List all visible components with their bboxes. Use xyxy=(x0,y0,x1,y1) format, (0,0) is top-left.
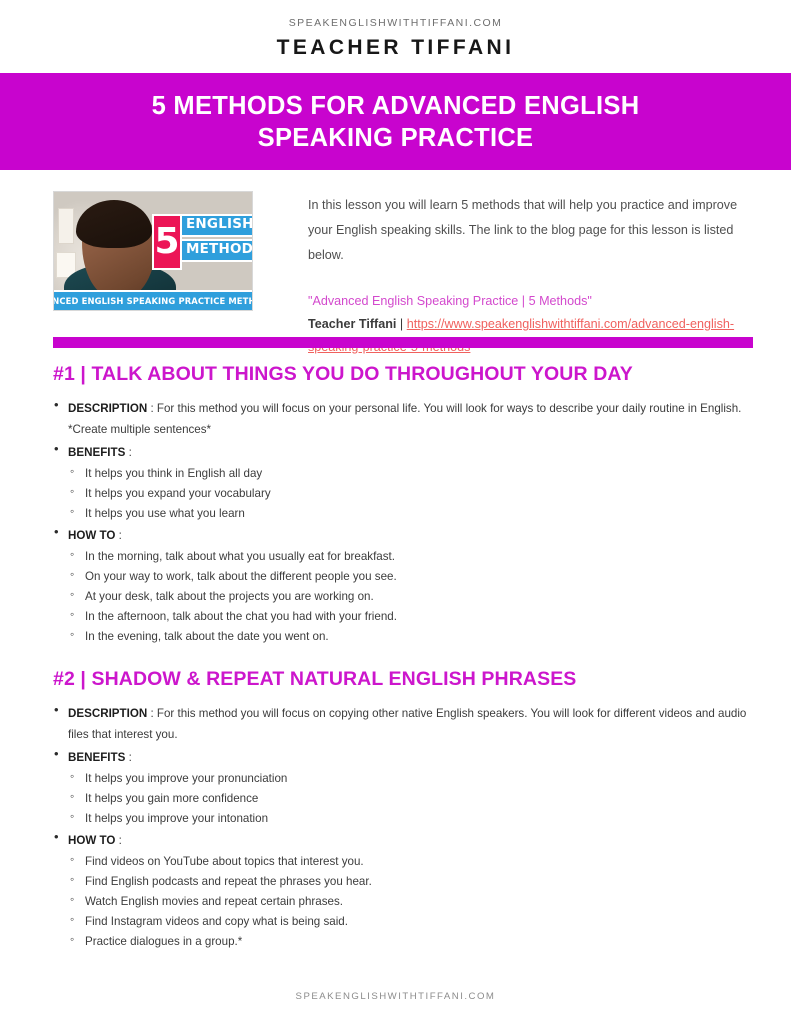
page-footer: SPEAKENGLISHWITHTIFFANI.COM xyxy=(0,986,791,1004)
section-heading-1: #1 | TALK ABOUT THINGS YOU DO THROUGHOUT… xyxy=(53,363,759,386)
method-section-1: #1 | TALK ABOUT THINGS YOU DO THROUGHOUT… xyxy=(53,363,759,646)
item-separator: : xyxy=(115,834,121,847)
subitem-text: It helps you think in English all day xyxy=(85,467,262,480)
list-item: BENEFITS : It helps you think in English… xyxy=(53,442,759,523)
list-item: In the morning, talk about what you usua… xyxy=(68,547,759,566)
list-item: It helps you improve your pronunciation xyxy=(68,769,759,788)
lesson-separator: | xyxy=(396,317,406,331)
list-item: DESCRIPTION : For this method you will f… xyxy=(53,398,759,440)
item-separator: : xyxy=(125,751,131,764)
item-label: DESCRIPTION xyxy=(68,707,147,720)
thumbnail-strip-text: ADVANCED ENGLISH SPEAKING PRACTICE METHO… xyxy=(53,296,253,306)
list-item: Practice dialogues in a group.* xyxy=(68,932,759,951)
banner-title-line-1: 5 METHODS FOR ADVANCED ENGLISH xyxy=(152,90,640,122)
item-separator: : xyxy=(147,707,157,720)
brand-name: TEACHER TIFFANI xyxy=(0,36,791,60)
subitem-text: It helps you improve your pronunciation xyxy=(85,772,287,785)
subitem-text: It helps you gain more confidence xyxy=(85,792,258,805)
list-item: It helps you expand your vocabulary xyxy=(68,484,759,503)
list-item: Find videos on YouTube about topics that… xyxy=(68,852,759,871)
thumbnail-shelf-decor xyxy=(58,208,74,244)
subitem-text: It helps you expand your vocabulary xyxy=(85,487,271,500)
section-1-list: DESCRIPTION : For this method you will f… xyxy=(53,398,759,646)
benefits-sublist-2: It helps you improve your pronunciation … xyxy=(68,769,759,828)
thumbnail-badge-methods: METHODS xyxy=(180,239,253,262)
item-description-1: DESCRIPTION : For this method you will f… xyxy=(68,398,759,440)
benefits-sublist-1: It helps you think in English all day It… xyxy=(68,464,759,523)
item-description-2: DESCRIPTION : For this method you will f… xyxy=(68,703,759,745)
item-separator: : xyxy=(147,402,157,415)
title-banner: 5 METHODS FOR ADVANCED ENGLISH SPEAKING … xyxy=(0,73,791,170)
item-separator: : xyxy=(115,529,121,542)
subitem-text: Watch English movies and repeat certain … xyxy=(85,895,343,908)
intro-block: 5 ENGLISH METHODS ADVANCED ENGLISH SPEAK… xyxy=(53,191,753,359)
item-separator: : xyxy=(125,446,131,459)
list-item: At your desk, talk about the projects yo… xyxy=(68,587,759,606)
lesson-author-line: Teacher Tiffani | https://www.speakengli… xyxy=(308,313,753,359)
item-benefits-2: BENEFITS : xyxy=(68,747,759,768)
list-item: It helps you gain more confidence xyxy=(68,789,759,808)
intro-paragraph: In this lesson you will learn 5 methods … xyxy=(308,193,753,268)
brand-site-url: SPEAKENGLISHWITHTIFFANI.COM xyxy=(0,17,791,29)
list-item: HOW TO : Find videos on YouTube about to… xyxy=(53,830,759,951)
subitem-text: Find Instagram videos and copy what is b… xyxy=(85,915,348,928)
list-item: DESCRIPTION : For this method you will f… xyxy=(53,703,759,745)
section-divider-bar xyxy=(53,337,753,348)
howto-sublist-2: Find videos on YouTube about topics that… xyxy=(68,852,759,951)
list-item: HOW TO : In the morning, talk about what… xyxy=(53,525,759,646)
section-2-list: DESCRIPTION : For this method you will f… xyxy=(53,703,759,951)
item-body: For this method you will focus on your p… xyxy=(68,402,741,436)
subitem-text: In the morning, talk about what you usua… xyxy=(85,550,395,563)
subitem-text: On your way to work, talk about the diff… xyxy=(85,570,397,583)
subitem-text: In the evening, talk about the date you … xyxy=(85,630,329,643)
item-label: BENEFITS xyxy=(68,751,125,764)
item-label: HOW TO xyxy=(68,834,115,847)
subitem-text: At your desk, talk about the projects yo… xyxy=(85,590,374,603)
lesson-link-block: "Advanced English Speaking Practice | 5 … xyxy=(308,290,753,359)
list-item: Watch English movies and repeat certain … xyxy=(68,892,759,911)
sections-container: #1 | TALK ABOUT THINGS YOU DO THROUGHOUT… xyxy=(53,363,759,958)
banner-title-line-2: SPEAKING PRACTICE xyxy=(258,122,534,154)
list-item: It helps you use what you learn xyxy=(68,504,759,523)
subitem-text: It helps you improve your intonation xyxy=(85,812,268,825)
video-thumbnail[interactable]: 5 ENGLISH METHODS ADVANCED ENGLISH SPEAK… xyxy=(53,191,253,311)
lesson-link-title: "Advanced English Speaking Practice | 5 … xyxy=(308,290,753,313)
item-label: HOW TO xyxy=(68,529,115,542)
list-item: Find Instagram videos and copy what is b… xyxy=(68,912,759,931)
subitem-text: Practice dialogues in a group.* xyxy=(85,935,242,948)
item-howto-1: HOW TO : xyxy=(68,525,759,546)
lesson-author: Teacher Tiffani xyxy=(308,317,396,331)
subitem-text: Find videos on YouTube about topics that… xyxy=(85,855,364,868)
footer-site-url: SPEAKENGLISHWITHTIFFANI.COM xyxy=(296,991,496,1002)
list-item: It helps you improve your intonation xyxy=(68,809,759,828)
thumbnail-badge-number: 5 xyxy=(152,214,182,270)
howto-sublist-1: In the morning, talk about what you usua… xyxy=(68,547,759,646)
subitem-text: In the afternoon, talk about the chat yo… xyxy=(85,610,397,623)
item-body: For this method you will focus on copyin… xyxy=(68,707,746,741)
list-item: BENEFITS : It helps you improve your pro… xyxy=(53,747,759,828)
thumbnail-bottom-strip: ADVANCED ENGLISH SPEAKING PRACTICE METHO… xyxy=(54,290,252,310)
thumbnail-badge-english: ENGLISH xyxy=(180,214,253,237)
subitem-text: Find English podcasts and repeat the phr… xyxy=(85,875,372,888)
subitem-text: It helps you use what you learn xyxy=(85,507,245,520)
list-item: In the evening, talk about the date you … xyxy=(68,627,759,646)
item-benefits-1: BENEFITS : xyxy=(68,442,759,463)
item-label: DESCRIPTION xyxy=(68,402,147,415)
intro-text-column: In this lesson you will learn 5 methods … xyxy=(253,191,753,359)
list-item: In the afternoon, talk about the chat yo… xyxy=(68,607,759,626)
brand-header: SPEAKENGLISHWITHTIFFANI.COM TEACHER TIFF… xyxy=(0,0,791,60)
list-item: Find English podcasts and repeat the phr… xyxy=(68,872,759,891)
item-howto-2: HOW TO : xyxy=(68,830,759,851)
list-item: It helps you think in English all day xyxy=(68,464,759,483)
method-section-2: #2 | SHADOW & REPEAT NATURAL ENGLISH PHR… xyxy=(53,668,759,951)
section-heading-2: #2 | SHADOW & REPEAT NATURAL ENGLISH PHR… xyxy=(53,668,759,691)
list-item: On your way to work, talk about the diff… xyxy=(68,567,759,586)
item-label: BENEFITS xyxy=(68,446,125,459)
